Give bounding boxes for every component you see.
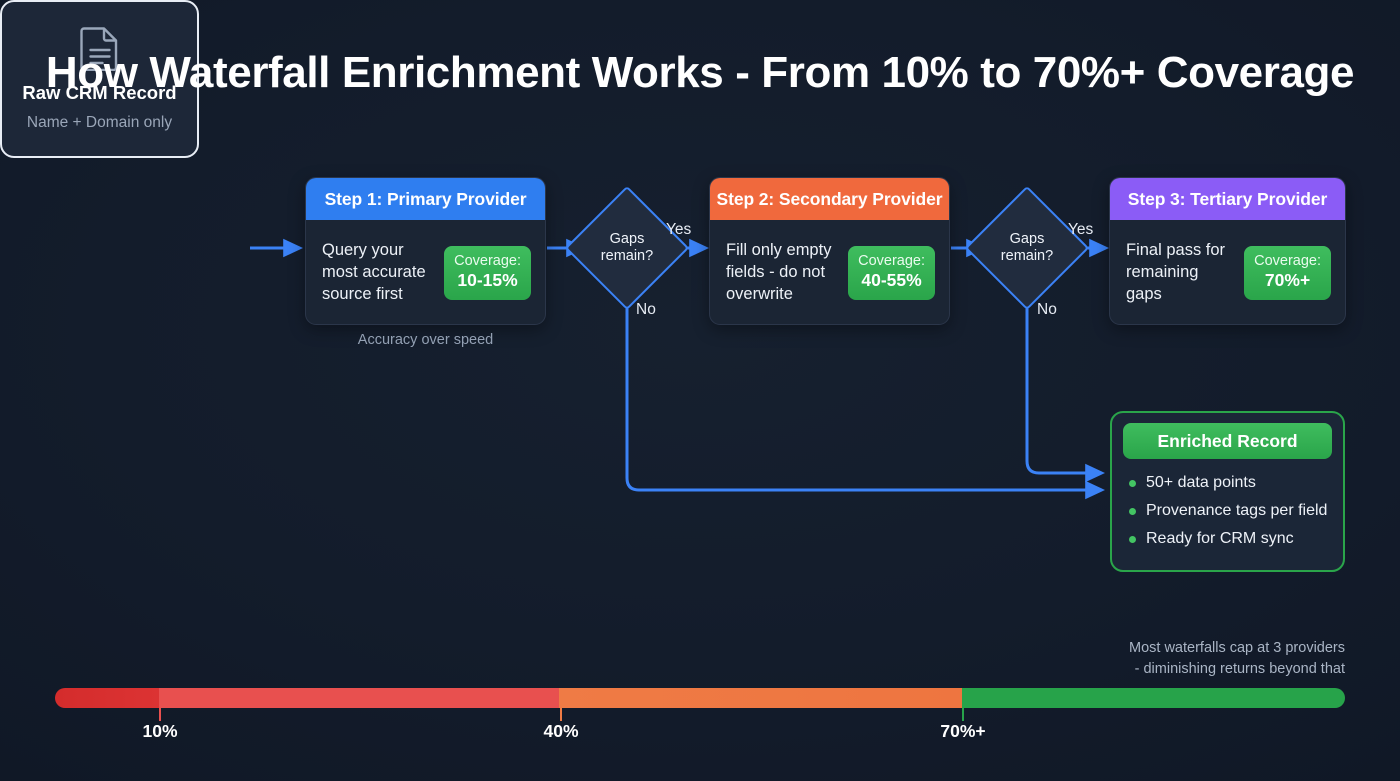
decision-2-shape xyxy=(965,186,1089,310)
enriched-item-0: 50+ data points xyxy=(1146,473,1256,493)
footnote-line-1: Most waterfalls cap at 3 providers xyxy=(1045,638,1345,659)
bar-tick-40 xyxy=(560,708,562,721)
diagram-canvas: How Waterfall Enrichment Works - From 10… xyxy=(0,0,1400,781)
decision-2-no-label: No xyxy=(1037,301,1057,319)
step-1-caption: Accuracy over speed xyxy=(305,332,546,348)
bar-label-70: 70%+ xyxy=(940,721,985,742)
footnote: Most waterfalls cap at 3 providers - dim… xyxy=(1045,638,1345,680)
page-title: How Waterfall Enrichment Works - From 10… xyxy=(0,48,1400,98)
step-2-coverage-label: Coverage: xyxy=(858,253,925,270)
list-item: 50+ data points xyxy=(1123,469,1332,497)
step-3-coverage-badge: Coverage: 70%+ xyxy=(1244,246,1331,301)
step-card-1[interactable]: Step 1: Primary Provider Query your most… xyxy=(305,177,546,325)
coverage-progress-bar xyxy=(55,688,1345,708)
step-1-coverage-label: Coverage: xyxy=(454,253,521,270)
decision-node-2[interactable]: Gaps remain? xyxy=(983,204,1071,292)
step-3-description: Final pass for remaining gaps xyxy=(1126,240,1230,305)
bar-label-40: 40% xyxy=(543,721,578,742)
bullet-icon xyxy=(1129,480,1136,487)
step-1-header: Step 1: Primary Provider xyxy=(306,178,545,220)
step-3-coverage-value: 70%+ xyxy=(1254,270,1321,292)
enriched-record-header: Enriched Record xyxy=(1123,423,1332,459)
step-2-description: Fill only empty fields - do not overwrit… xyxy=(726,240,834,305)
enriched-item-2: Ready for CRM sync xyxy=(1146,529,1294,549)
step-1-description: Query your most accurate source first xyxy=(322,240,430,305)
arrow-decision2-no-to-enriched xyxy=(1027,292,1102,473)
enriched-record-card[interactable]: Enriched Record 50+ data points Provenan… xyxy=(1110,411,1345,572)
decision-1-no-label: No xyxy=(636,301,656,319)
raw-record-subtitle: Name + Domain only xyxy=(27,113,172,133)
decision-2-yes-label: Yes xyxy=(1068,221,1093,239)
footnote-line-2: - diminishing returns beyond that xyxy=(1045,659,1345,680)
decision-1-yes-label: Yes xyxy=(666,221,691,239)
step-1-coverage-badge: Coverage: 10-15% xyxy=(444,246,531,301)
bar-segment-3 xyxy=(962,688,1345,708)
bar-segment-0 xyxy=(55,688,159,708)
bar-tick-10 xyxy=(159,708,161,721)
step-card-3[interactable]: Step 3: Tertiary Provider Final pass for… xyxy=(1109,177,1346,325)
list-item: Provenance tags per field xyxy=(1123,497,1332,525)
step-2-coverage-badge: Coverage: 40-55% xyxy=(848,246,935,301)
bullet-icon xyxy=(1129,508,1136,515)
step-3-header: Step 3: Tertiary Provider xyxy=(1110,178,1345,220)
bullet-icon xyxy=(1129,536,1136,543)
step-2-coverage-value: 40-55% xyxy=(858,270,925,292)
list-item: Ready for CRM sync xyxy=(1123,525,1332,553)
enriched-record-list: 50+ data points Provenance tags per fiel… xyxy=(1123,469,1332,553)
bar-segment-1 xyxy=(159,688,559,708)
step-card-2[interactable]: Step 2: Secondary Provider Fill only emp… xyxy=(709,177,950,325)
bar-segment-2 xyxy=(559,688,961,708)
bar-label-10: 10% xyxy=(142,721,177,742)
bar-tick-70 xyxy=(962,708,964,721)
step-1-coverage-value: 10-15% xyxy=(454,270,521,292)
step-3-coverage-label: Coverage: xyxy=(1254,253,1321,270)
decision-node-1[interactable]: Gaps remain? xyxy=(583,204,671,292)
enriched-item-1: Provenance tags per field xyxy=(1146,501,1327,521)
decision-1-shape xyxy=(565,186,689,310)
step-2-header: Step 2: Secondary Provider xyxy=(710,178,949,220)
